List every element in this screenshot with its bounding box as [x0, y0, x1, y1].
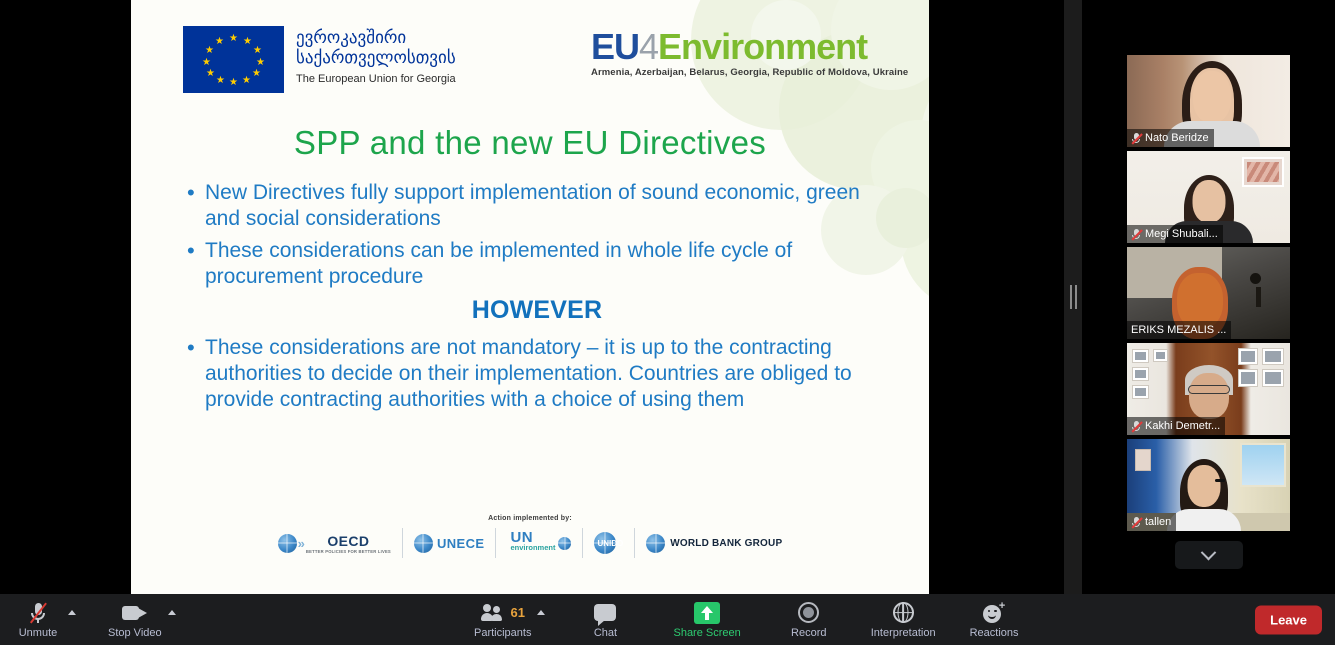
unmute-label: Unmute: [19, 627, 58, 639]
partner-logo-unido: UNIDO: [583, 528, 635, 558]
eu-logo-english: The European Union for Georgia: [296, 72, 456, 86]
eu-georgia-logo: ★ ★ ★ ★ ★ ★ ★ ★ ★ ★ ★ ★ ევროკავშირ: [183, 26, 456, 93]
eu4environment-logo: EU4Environment Armenia, Azerbaijan, Bela…: [591, 28, 908, 78]
participant-count: 61: [511, 605, 525, 620]
mic-muted-icon: [1131, 516, 1141, 529]
participants-button[interactable]: 61 Participants: [470, 594, 535, 645]
e4e-countries-text: Armenia, Azerbaijan, Belarus, Georgia, R…: [591, 67, 908, 78]
participant-name: Kakhi Demetr...: [1145, 420, 1220, 432]
leave-button[interactable]: Leave: [1255, 605, 1322, 634]
chat-icon: [594, 601, 616, 625]
share-screen-label: Share Screen: [673, 627, 740, 639]
bullet-item: • New Directives fully support implement…: [187, 180, 887, 232]
partner-logo-world-bank: WORLD BANK GROUP: [635, 528, 793, 558]
globe-icon: [558, 537, 571, 550]
participant-name: Nato Beridze: [1145, 132, 1209, 144]
partner-logo-row: » OECD BETTER POLICIES FOR BETTER LIVES …: [131, 528, 929, 558]
stop-video-label: Stop Video: [108, 627, 162, 639]
oecd-tagline: BETTER POLICIES FOR BETTER LIVES: [306, 549, 391, 554]
zoom-meeting-window: ★ ★ ★ ★ ★ ★ ★ ★ ★ ★ ★ ★ ევროკავშირ: [0, 0, 1335, 645]
bullet-dot: •: [187, 180, 205, 232]
bullet-dot: •: [187, 238, 205, 290]
globe-icon: [414, 534, 433, 553]
presentation-slide: ★ ★ ★ ★ ★ ★ ★ ★ ★ ★ ★ ★ ევროკავშირ: [131, 0, 929, 594]
mic-muted-icon: [28, 601, 48, 625]
slide-footer: Action implemented by: » OECD BETTER POL…: [131, 515, 929, 558]
slide-title: SPP and the new EU Directives: [131, 124, 929, 162]
filmstrip-scroll-down-button[interactable]: [1175, 541, 1243, 569]
unece-name: UNECE: [437, 536, 485, 551]
world-bank-name: WORLD BANK GROUP: [670, 538, 782, 549]
meeting-toolbar: Unmute Stop Video 61 Participants: [0, 594, 1335, 645]
bullet-dot: •: [187, 335, 205, 413]
audio-options-caret-icon[interactable]: [68, 610, 76, 615]
bullet-text: New Directives fully support implementat…: [205, 180, 887, 232]
eu-logo-georgian-line2: საქართველოსთვის: [296, 48, 456, 68]
partner-logo-oecd: » OECD BETTER POLICIES FOR BETTER LIVES: [267, 528, 403, 558]
partner-logo-un-environment: UN environment: [496, 528, 583, 558]
participant-namebar: ERIKS MEZALIS ...: [1127, 321, 1231, 339]
participant-filmstrip[interactable]: Nato Beridze Megi Shubali... ERIKS MEZAL…: [1082, 0, 1335, 594]
interpretation-button[interactable]: Interpretation: [867, 594, 940, 645]
oecd-name: OECD: [327, 533, 369, 549]
record-label: Record: [791, 627, 826, 639]
partner-logo-unece: UNECE: [403, 528, 497, 558]
chat-label: Chat: [594, 627, 617, 639]
slide-body: • New Directives fully support implement…: [187, 180, 887, 419]
e4e-four-text: 4: [639, 26, 658, 67]
participant-name: ERIKS MEZALIS ...: [1131, 324, 1226, 336]
e4e-environment-text: Environment: [658, 26, 867, 67]
un-environment-tagline: environment: [510, 543, 555, 553]
eu-flag-icon: ★ ★ ★ ★ ★ ★ ★ ★ ★ ★ ★ ★: [183, 26, 284, 93]
participants-icon: 61: [481, 601, 525, 625]
drag-grip-icon: [1070, 285, 1077, 309]
bullet-item: • These considerations can be implemente…: [187, 238, 887, 290]
stop-video-button[interactable]: Stop Video: [104, 594, 166, 645]
shared-screen-area[interactable]: ★ ★ ★ ★ ★ ★ ★ ★ ★ ★ ★ ★ ევროკავშირ: [0, 0, 1062, 594]
globe-icon: [278, 534, 297, 553]
bullet-item: • These considerations are not mandatory…: [187, 335, 887, 413]
mic-muted-icon: [1131, 228, 1141, 241]
eu-logo-georgian-line1: ევროკავშირი: [296, 28, 456, 48]
reactions-button[interactable]: + Reactions: [966, 594, 1023, 645]
camera-icon: [122, 601, 148, 625]
chevron-down-icon: [1201, 544, 1217, 560]
slide-header: ★ ★ ★ ★ ★ ★ ★ ★ ★ ★ ★ ★ ევროკავშირ: [131, 0, 929, 105]
participant-name: Megi Shubali...: [1145, 228, 1218, 240]
record-icon: [798, 601, 819, 625]
decorative-circle: [901, 170, 929, 310]
participant-namebar: Nato Beridze: [1127, 129, 1214, 147]
reactions-label: Reactions: [970, 627, 1019, 639]
participant-namebar: Megi Shubali...: [1127, 225, 1223, 243]
participant-tile[interactable]: Kakhi Demetr...: [1127, 343, 1290, 435]
action-implemented-by-label: Action implemented by:: [131, 515, 929, 522]
however-heading: HOWEVER: [187, 296, 887, 325]
bullet-text: These considerations are not mandatory –…: [205, 335, 887, 413]
participant-tile[interactable]: Megi Shubali...: [1127, 151, 1290, 243]
participants-options-caret-icon[interactable]: [537, 610, 545, 615]
participant-tile[interactable]: tallen: [1127, 439, 1290, 531]
unido-name: UNIDO: [597, 539, 623, 548]
share-screen-icon: [694, 601, 720, 625]
reactions-smiley-icon: +: [983, 601, 1005, 625]
share-screen-button[interactable]: Share Screen: [669, 594, 744, 645]
participant-name: tallen: [1145, 516, 1171, 528]
video-options-caret-icon[interactable]: [168, 610, 176, 615]
record-button[interactable]: Record: [781, 594, 837, 645]
e4e-eu-text: EU: [591, 26, 639, 67]
participant-tile[interactable]: Nato Beridze: [1127, 55, 1290, 147]
mic-muted-icon: [1131, 132, 1141, 145]
globe-icon: [893, 601, 914, 625]
participant-namebar: tallen: [1127, 513, 1176, 531]
chevron-icon: »: [298, 536, 302, 551]
participant-namebar: Kakhi Demetr...: [1127, 417, 1225, 435]
participants-label: Participants: [474, 627, 531, 639]
participant-tile-active-speaker[interactable]: ERIKS MEZALIS ...: [1127, 247, 1290, 339]
unmute-button[interactable]: Unmute: [10, 594, 66, 645]
chat-button[interactable]: Chat: [577, 594, 633, 645]
bullet-text: These considerations can be implemented …: [205, 238, 887, 290]
globe-icon: [646, 534, 665, 553]
mic-muted-icon: [1131, 420, 1141, 433]
panel-resize-handle[interactable]: [1064, 0, 1082, 594]
interpretation-label: Interpretation: [871, 627, 936, 639]
